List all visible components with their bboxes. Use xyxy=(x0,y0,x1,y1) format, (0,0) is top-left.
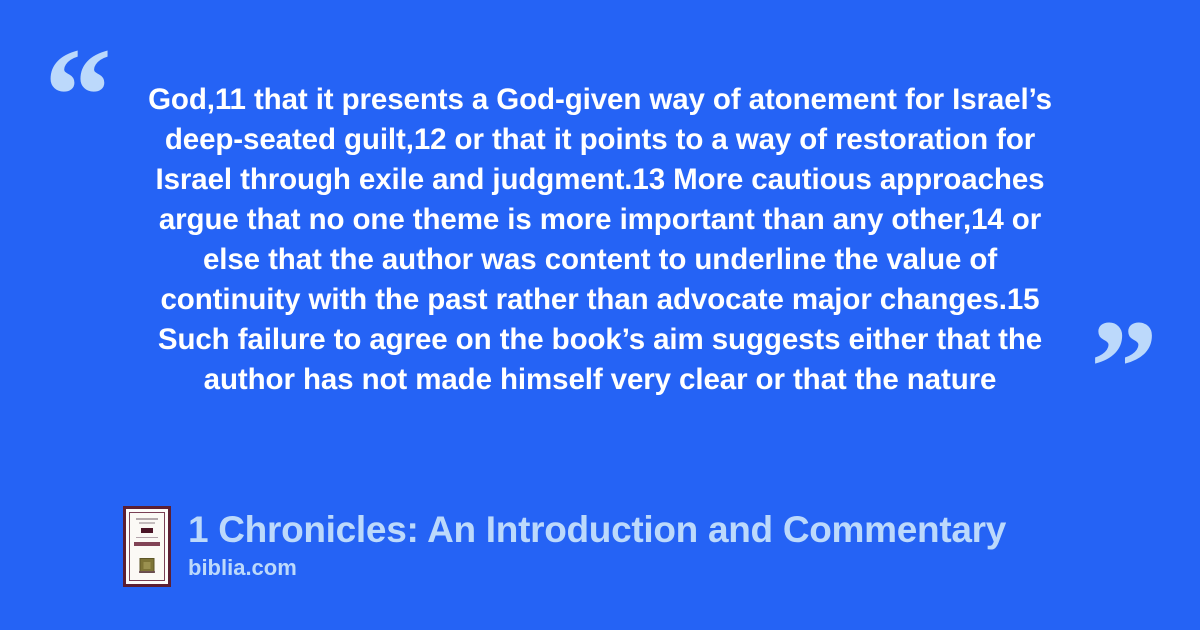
quote-card: “ ” God,11 that it presents a God-given … xyxy=(0,0,1200,630)
quote-line: Israel through exile and judgment.13 Mor… xyxy=(124,160,1076,200)
book-cover-band xyxy=(141,528,153,533)
footer-text-group: 1 Chronicles: An Introduction and Commen… xyxy=(188,506,1006,582)
quote-text-block: God,11 that it presents a God-given way … xyxy=(124,80,1076,400)
book-cover-author-text xyxy=(139,571,155,573)
quote-line: continuity with the past rather than adv… xyxy=(124,280,1076,320)
source-site: biblia.com xyxy=(188,554,1006,582)
quote-line: deep-seated guilt,12 or that it points t… xyxy=(124,120,1076,160)
book-cover-title-text xyxy=(134,542,160,546)
book-title: 1 Chronicles: An Introduction and Commen… xyxy=(188,508,1006,552)
book-cover-series-line xyxy=(136,518,158,520)
quote-line: Such failure to agree on the book’s aim … xyxy=(124,320,1076,360)
open-quote-icon: “ xyxy=(44,28,112,164)
quote-line: else that the author was content to unde… xyxy=(124,240,1076,280)
book-cover-rule xyxy=(136,537,158,538)
book-cover-thumbnail xyxy=(123,506,171,587)
quote-line: God,11 that it presents a God-given way … xyxy=(124,80,1076,120)
book-cover-series-line-secondary xyxy=(139,522,155,524)
quote-line: author has not made himself very clear o… xyxy=(124,360,1076,400)
book-cover-frame xyxy=(129,512,165,581)
attribution-footer: 1 Chronicles: An Introduction and Commen… xyxy=(123,506,1006,587)
quote-line: argue that no one theme is more importan… xyxy=(124,200,1076,240)
close-quote-icon: ” xyxy=(1090,300,1158,436)
